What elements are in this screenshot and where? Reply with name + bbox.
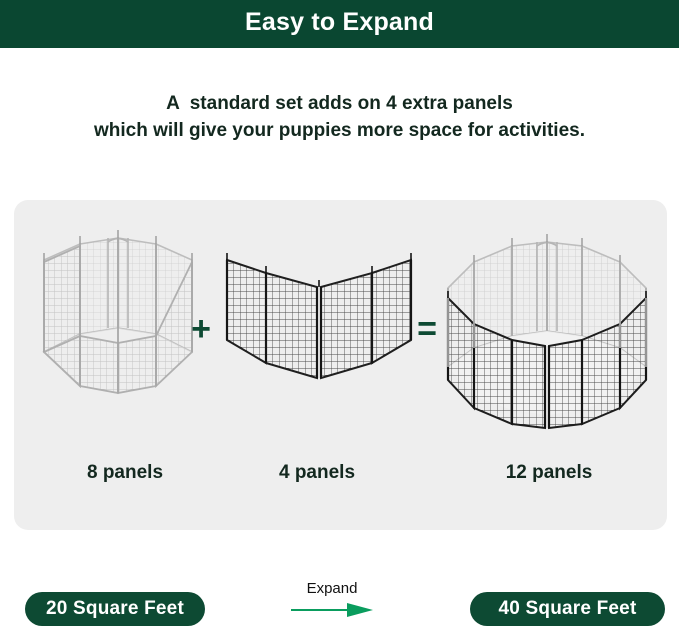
header-bar: Easy to Expand	[0, 0, 679, 48]
panel-count-label-12: 12 panels	[454, 462, 644, 484]
area-badge-before: 20 Square Feet	[25, 592, 205, 626]
expand-label: Expand	[268, 580, 396, 598]
expand-indicator: Expand	[268, 580, 396, 620]
subtitle-line-2: which will give your puppies more space …	[0, 117, 679, 144]
plus-operator: +	[184, 312, 218, 346]
playpen-12-panels-illustration	[432, 200, 662, 430]
four-panel-extension-dark-icon	[214, 200, 424, 430]
subtitle-line-1: A standard set adds on 4 extra panels	[0, 90, 679, 117]
subtitle: A standard set adds on 4 extra panels wh…	[0, 90, 679, 144]
panel-count-label-4: 4 panels	[232, 462, 402, 484]
area-badge-after: 40 Square Feet	[470, 592, 665, 626]
illustration-card: + =	[14, 200, 667, 530]
arrow-right-icon	[289, 600, 375, 620]
page-title: Easy to Expand	[245, 10, 434, 38]
dodecagon-playpen-mixed-icon	[432, 200, 662, 430]
panels-4-extension-illustration	[214, 200, 424, 430]
panel-count-label-8: 8 panels	[40, 462, 210, 484]
